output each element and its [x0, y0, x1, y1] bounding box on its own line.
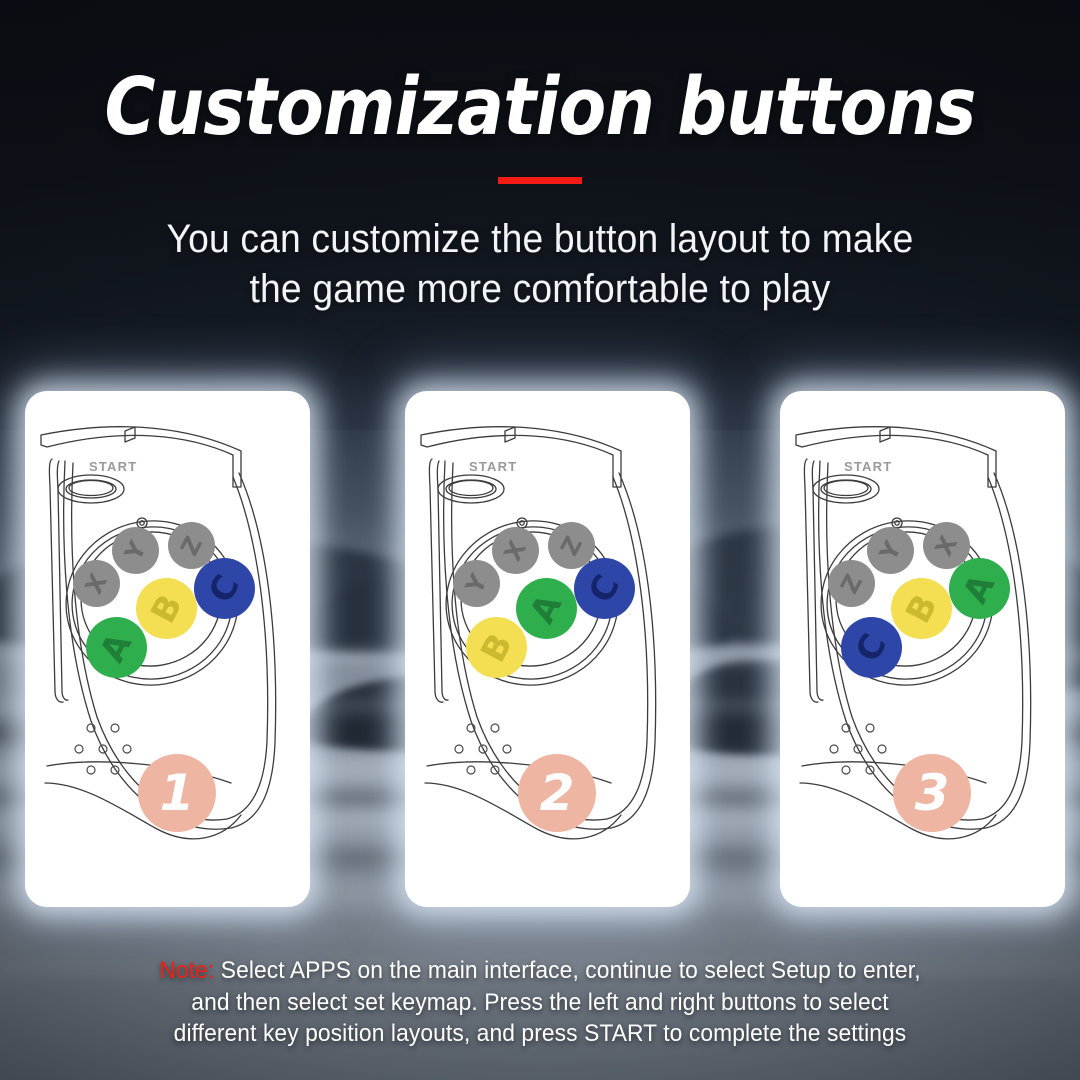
- note-line-1: Note: Select APPS on the main interface,…: [27, 955, 1053, 987]
- page-title: Customization buttons: [65, 66, 1015, 149]
- start-button-label: START: [89, 459, 137, 474]
- button-label: C: [584, 570, 626, 608]
- title-divider: [498, 177, 582, 184]
- button-label: A: [525, 589, 567, 628]
- controller-button-c[interactable]: C: [841, 617, 902, 678]
- button-label: X: [501, 537, 531, 565]
- controller-button-y[interactable]: Y: [453, 560, 500, 607]
- controller-button-a[interactable]: A: [86, 617, 147, 678]
- button-label: Y: [876, 537, 905, 564]
- layout-card-2[interactable]: STARTYXZBAC2: [405, 391, 690, 907]
- note-line-1-text: Select APPS on the main interface, conti…: [214, 957, 920, 984]
- controller-button-z[interactable]: Z: [828, 560, 875, 607]
- layout-card-1[interactable]: STARTXYZABC1: [25, 391, 310, 907]
- button-label: Y: [121, 537, 150, 564]
- controller-button-c[interactable]: C: [194, 558, 255, 619]
- button-label: B: [475, 628, 517, 667]
- layout-number-badge: 2: [518, 754, 596, 832]
- button-label: Z: [837, 570, 866, 597]
- controller-button-x[interactable]: X: [73, 560, 120, 607]
- controller-button-x[interactable]: X: [492, 527, 539, 574]
- button-label: Z: [557, 532, 586, 559]
- note-line-3: different key position layouts, and pres…: [27, 1018, 1053, 1050]
- start-button-label: START: [469, 459, 517, 474]
- button-label: Y: [462, 570, 491, 597]
- note-text: Note: Select APPS on the main interface,…: [27, 955, 1053, 1050]
- header: Customization buttons You can customize …: [0, 0, 1080, 315]
- note-keyword: Note:: [159, 957, 214, 984]
- subtitle-line-1: You can customize the button layout to m…: [112, 214, 968, 264]
- controller-button-a[interactable]: A: [516, 578, 577, 639]
- start-button-label: START: [844, 459, 892, 474]
- button-label: B: [145, 589, 187, 628]
- subtitle-line-2: the game more comfortable to play: [112, 264, 968, 314]
- layout-card-3[interactable]: STARTZYXCBA3: [780, 391, 1065, 907]
- controller-button-b[interactable]: B: [891, 578, 952, 639]
- button-label: C: [851, 629, 893, 667]
- layout-number-badge: 1: [138, 754, 216, 832]
- button-label: B: [900, 589, 942, 628]
- button-label: Z: [177, 532, 206, 559]
- controller-button-b[interactable]: B: [466, 617, 527, 678]
- page-subtitle: You can customize the button layout to m…: [112, 214, 968, 315]
- button-label: A: [95, 628, 137, 667]
- controller-button-c[interactable]: C: [574, 558, 635, 619]
- button-label: X: [932, 532, 962, 560]
- controller-button-y[interactable]: Y: [867, 527, 914, 574]
- button-label: C: [204, 570, 246, 608]
- note-line-2: and then select set keymap. Press the le…: [27, 987, 1053, 1019]
- controller-button-b[interactable]: B: [136, 578, 197, 639]
- layout-number-badge: 3: [893, 754, 971, 832]
- button-label: A: [958, 569, 1000, 608]
- button-label: X: [82, 570, 112, 598]
- layout-card-list: STARTXYZABC1 STARTYXZBAC2: [0, 391, 1080, 913]
- controller-button-a[interactable]: A: [949, 558, 1010, 619]
- controller-button-y[interactable]: Y: [112, 527, 159, 574]
